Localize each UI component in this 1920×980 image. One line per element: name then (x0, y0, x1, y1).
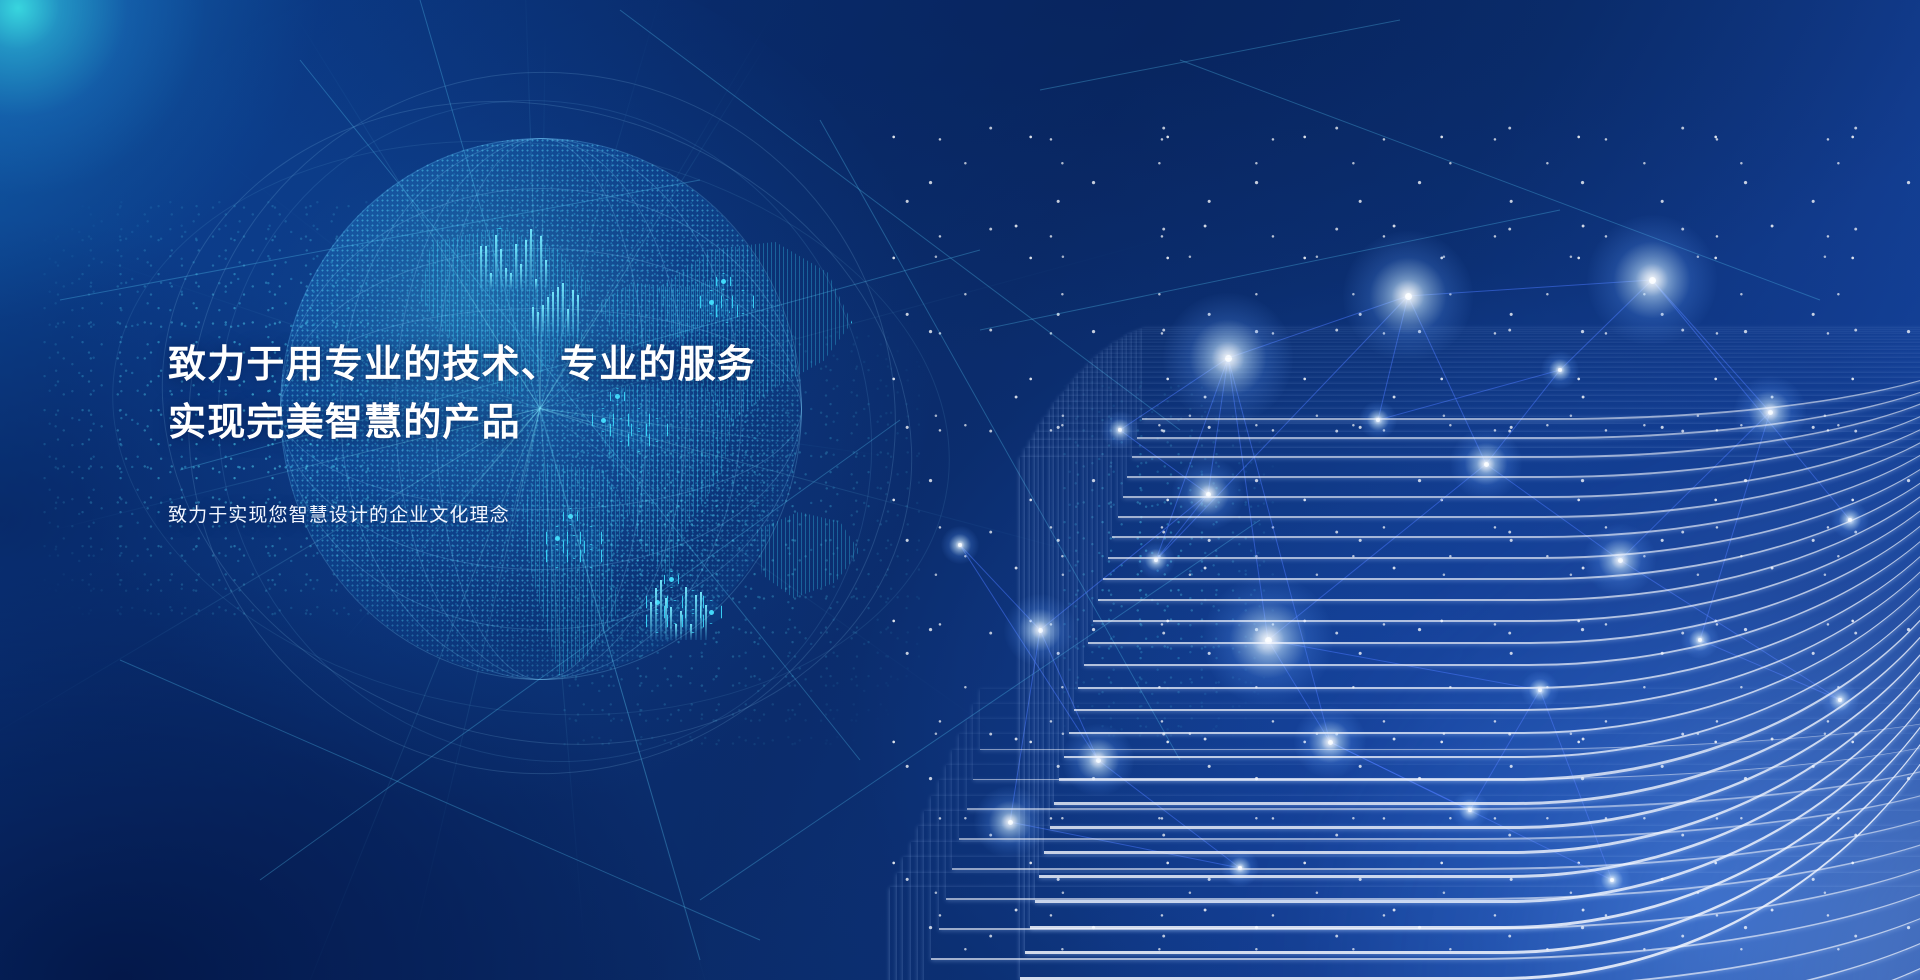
headline-line-2: 实现完美智慧的产品 (168, 394, 928, 452)
page-title: 致力于用专业的技术、专业的服务 实现完美智慧的产品 (168, 336, 928, 452)
hero-subtitle: 致力于实现您智慧设计的企业文化理念 (168, 500, 928, 527)
light-ribbon-fan (800, 140, 1920, 980)
hero-banner: 致力于用专业的技术、专业的服务 实现完美智慧的产品 致力于实现您智慧设计的企业文… (0, 0, 1920, 980)
hero-copy: 致力于用专业的技术、专业的服务 实现完美智慧的产品 致力于实现您智慧设计的企业文… (168, 336, 928, 527)
headline-line-1: 致力于用专业的技术、专业的服务 (168, 336, 928, 394)
